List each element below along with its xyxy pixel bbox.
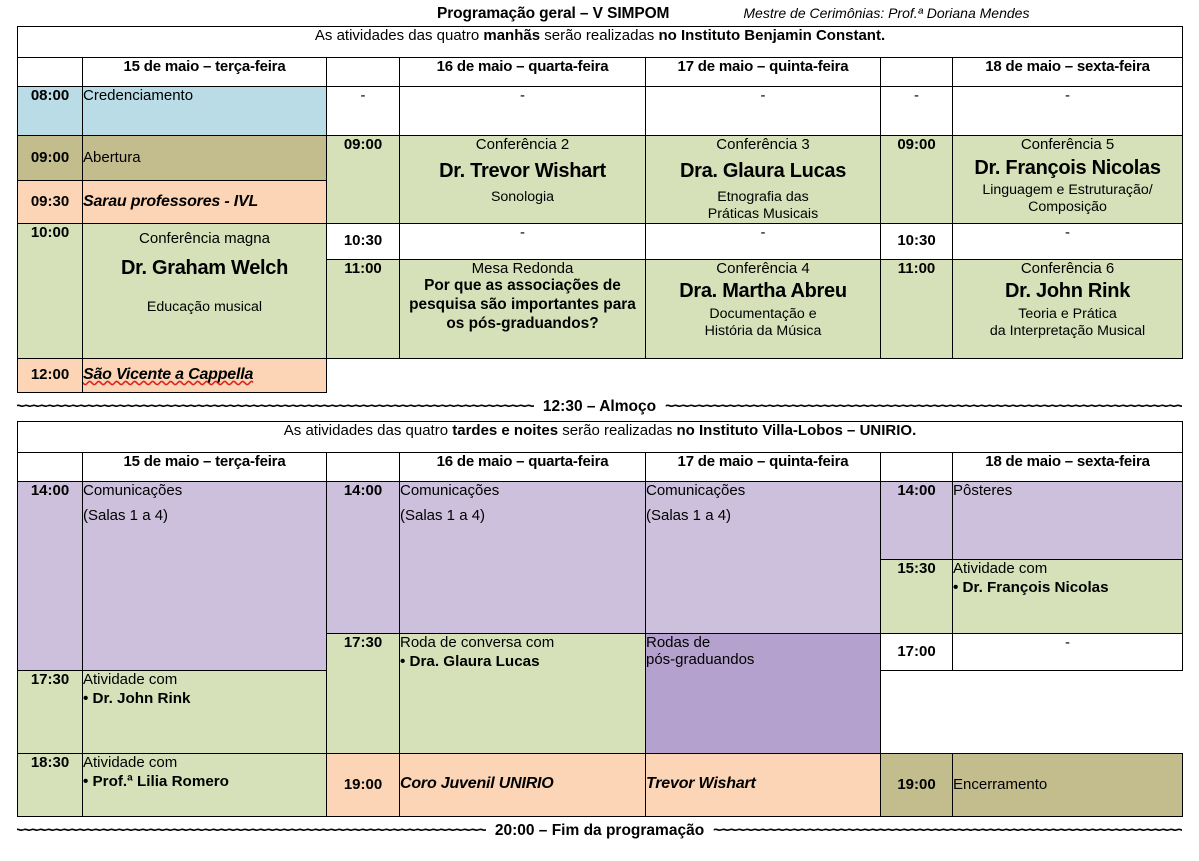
- sao-vicente-label: São Vicente a Cappella: [83, 366, 326, 385]
- morning-banner-p3: serão realizadas: [540, 27, 658, 44]
- day2-comunicacoes-l1: Comunicações: [400, 482, 645, 500]
- atividade-romero-l2: • Prof.ª Lilia Romero: [83, 773, 326, 791]
- afternoon-banner-p1: As atividades das quatro: [284, 422, 452, 439]
- morning-row-1000: 10:00 Conferência magna Dr. Graham Welch…: [18, 223, 1183, 259]
- coro-juvenil-label: Coro Juvenil UNIRIO: [400, 775, 645, 794]
- roda-conversa-l1: Roda de conversa com: [400, 634, 645, 652]
- afternoon-day3-rodas-posgrad: Rodas de pós-graduandos: [646, 633, 881, 753]
- day3-comunicacoes-l2: (Salas 1 a 4): [646, 507, 880, 525]
- morning-day1-sarau: Sarau professores - IVL: [83, 181, 327, 224]
- afternoon-day-header-row: 15 de maio – terça-feira 16 de maio – qu…: [18, 452, 1183, 481]
- afternoon-banner-p4: no Instituto Villa-Lobos – UNIRIO.: [677, 422, 917, 439]
- morning-day3-conferencia4: Conferência 4 Dra. Martha Abreu Document…: [646, 259, 881, 358]
- end-tilde-left: ~~~~~~~~~~~~~~~~~~~~~~~~~~~~~~~~~~~~~~~~…: [17, 822, 486, 840]
- afternoon-time-header-4: [881, 452, 953, 481]
- lunch-label: 12:30 – Almoço: [534, 398, 665, 416]
- afternoon-banner-p3: serão realizadas: [558, 422, 676, 439]
- afternoon-time-1400-day2: 14:00: [327, 481, 400, 633]
- afternoon-schedule-table: As atividades das quatro tardes e noites…: [17, 421, 1183, 817]
- afternoon-row-1400: 14:00 Comunicações (Salas 1 a 4) 14:00 C…: [18, 481, 1183, 559]
- afternoon-time-1400-day4: 14:00: [881, 481, 953, 559]
- afternoon-day-header-4: 18 de maio – sexta-feira: [953, 452, 1183, 481]
- day2-comunicacoes-l2: (Salas 1 a 4): [400, 507, 645, 525]
- afternoon-day3-comunicacoes: Comunicações (Salas 1 a 4): [646, 481, 881, 633]
- afternoon-day4-1700-dash: -: [953, 633, 1183, 670]
- conferencia2-topic: Sonologia: [404, 189, 641, 206]
- afternoon-day-header-2: 16 de maio – quarta-feira: [400, 452, 646, 481]
- afternoon-day1-comunicacoes: Comunicações (Salas 1 a 4): [83, 481, 327, 670]
- posteres-label: Pôsteres: [953, 482, 1182, 500]
- magna-label: Conferência magna: [87, 230, 322, 248]
- morning-day4-time-1100: 11:00: [881, 259, 953, 358]
- end-separator: ~~~~~~~~~~~~~~~~~~~~~~~~~~~~~~~~~~~~~~~~…: [17, 817, 1182, 845]
- morning-banner-row: As atividades das quatro manhãs serão re…: [18, 27, 1183, 58]
- conferencia2-label: Conferência 2: [404, 136, 641, 154]
- conferencia3-speaker: Dra. Glaura Lucas: [650, 160, 876, 184]
- conferencia6-label: Conferência 6: [957, 260, 1178, 278]
- afternoon-day2-coro-juvenil: Coro Juvenil UNIRIO: [400, 753, 646, 816]
- conferencia6-topic-l1: Teoria e Prática: [957, 306, 1178, 323]
- afternoon-banner-p2: tardes e noites: [452, 422, 558, 439]
- afternoon-day-header-1: 15 de maio – terça-feira: [83, 452, 327, 481]
- afternoon-time-1730-day4: 17:30: [18, 670, 83, 753]
- afternoon-day3-trevor-wishart: Trevor Wishart: [646, 753, 881, 816]
- afternoon-time-1900-day4: 19:00: [881, 753, 953, 816]
- mesa-redonda-label: Mesa Redonda: [404, 260, 641, 278]
- afternoon-time-1830-day1: 18:30: [18, 753, 83, 816]
- morning-day-header-1: 15 de maio – terça-feira: [83, 58, 327, 87]
- end-tilde-right: ~~~~~~~~~~~~~~~~~~~~~~~~~~~~~~~~~~~~~~~~…: [713, 822, 1182, 840]
- trevor-wishart-label: Trevor Wishart: [646, 775, 880, 794]
- morning-day4-conferencia6: Conferência 6 Dr. John Rink Teoria e Prá…: [953, 259, 1183, 358]
- conferencia6-topic-l2: da Interpretação Musical: [957, 323, 1178, 340]
- afternoon-day-header-3: 17 de maio – quinta-feira: [646, 452, 881, 481]
- morning-banner-p1: As atividades das quatro: [315, 27, 483, 44]
- morning-day2-time-dash: -: [327, 87, 400, 136]
- conferencia5-topic-l2: Composição: [957, 199, 1178, 216]
- afternoon-time-1530-day4: 15:30: [881, 559, 953, 633]
- conferencia4-speaker: Dra. Martha Abreu: [650, 280, 876, 304]
- morning-row-0900: 09:00 Abertura 09:00 Conferência 2 Dr. T…: [18, 136, 1183, 181]
- conferencia3-topic-l2: Práticas Musicais: [650, 206, 876, 223]
- end-label: 20:00 – Fim da programação: [486, 822, 713, 840]
- afternoon-day1-atividade-romero: Atividade com • Prof.ª Lilia Romero: [83, 753, 327, 816]
- sarau-label: Sarau professores - IVL: [83, 193, 326, 212]
- morning-time-0800: 08:00: [18, 87, 83, 136]
- afternoon-day4-atividade-nicolas: Atividade com • Dr. François Nicolas: [953, 559, 1183, 633]
- morning-day-header-row: 15 de maio – terça-feira 16 de maio – qu…: [18, 58, 1183, 87]
- morning-day4-time-0900: 09:00: [881, 136, 953, 224]
- morning-day2-1030-dash: -: [400, 223, 646, 259]
- morning-day2-conferencia2: Conferência 2 Dr. Trevor Wishart Sonolog…: [400, 136, 646, 224]
- afternoon-banner: As atividades das quatro tardes e noites…: [18, 421, 1183, 452]
- magna-speaker: Dr. Graham Welch: [87, 257, 322, 281]
- conferencia5-topic-l1: Linguagem e Estruturação/: [957, 182, 1178, 199]
- page-title-row: Programação geral – V SIMPOM Mestre de C…: [17, 0, 1182, 26]
- morning-day3-0800-dash: -: [646, 87, 881, 136]
- lunch-separator: ~~~~~~~~~~~~~~~~~~~~~~~~~~~~~~~~~~~~~~~~…: [17, 393, 1182, 421]
- conferencia2-speaker: Dr. Trevor Wishart: [404, 160, 641, 184]
- morning-day4-time-dash: -: [881, 87, 953, 136]
- afternoon-time-1700-day4: 17:00: [881, 633, 953, 670]
- morning-day1-sao-vicente: São Vicente a Cappella: [83, 358, 327, 392]
- encerramento-label: Encerramento: [953, 776, 1182, 794]
- day3-comunicacoes-l1: Comunicações: [646, 482, 880, 500]
- morning-time-1000: 10:00: [18, 223, 83, 358]
- conferencia5-label: Conferência 5: [957, 136, 1178, 154]
- afternoon-day2-comunicacoes: Comunicações (Salas 1 a 4): [400, 481, 646, 633]
- atividade-rink-l1: Atividade com: [83, 671, 326, 689]
- afternoon-day2-roda-conversa: Roda de conversa com • Dra. Glaura Lucas: [400, 633, 646, 753]
- conferencia5-speaker: Dr. François Nicolas: [957, 157, 1178, 181]
- morning-row-0800: 08:00 Credenciamento - - - - -: [18, 87, 1183, 136]
- morning-day4-0800-dash: -: [953, 87, 1183, 136]
- day1-comunicacoes-l2: (Salas 1 a 4): [83, 507, 326, 525]
- afternoon-day4-atividade-rink: Atividade com • Dr. John Rink: [83, 670, 327, 753]
- morning-day1-abertura: Abertura: [83, 136, 327, 181]
- afternoon-time-1400-day1: 14:00: [18, 481, 83, 670]
- morning-schedule-table: As atividades das quatro manhãs serão re…: [17, 26, 1183, 393]
- morning-day2-0800-dash: -: [400, 87, 646, 136]
- morning-day2-time-0900: 09:00: [327, 136, 400, 224]
- morning-day1-conferencia-magna: Conferência magna Dr. Graham Welch Educa…: [83, 223, 327, 358]
- morning-day2-time-1100: 11:00: [327, 259, 400, 358]
- atividade-nicolas-l1: Atividade com: [953, 560, 1182, 578]
- roda-conversa-l2: • Dra. Glaura Lucas: [400, 653, 645, 671]
- morning-banner-p2: manhãs: [483, 27, 540, 44]
- afternoon-row-1900: 18:30 Atividade com • Prof.ª Lilia Romer…: [18, 753, 1183, 816]
- atividade-romero-l1: Atividade com: [83, 754, 326, 772]
- afternoon-time-1730-day2: 17:30: [327, 633, 400, 753]
- morning-day1-credenciamento: Credenciamento: [83, 87, 327, 136]
- morning-banner: As atividades das quatro manhãs serão re…: [18, 27, 1183, 58]
- day1-comunicacoes-l1: Comunicações: [83, 482, 326, 500]
- morning-day4-time-1030: 10:30: [881, 223, 953, 259]
- credenciamento-label: Credenciamento: [83, 87, 326, 105]
- morning-time-header-2: [327, 58, 400, 87]
- morning-day4-1030-dash: -: [953, 223, 1183, 259]
- atividade-nicolas-l2: • Dr. François Nicolas: [953, 579, 1182, 597]
- morning-day3-conferencia3: Conferência 3 Dra. Glaura Lucas Etnograf…: [646, 136, 881, 224]
- mesa-redonda-question: Por que as associações de pesquisa são i…: [404, 277, 641, 333]
- morning-day3-1030-dash: -: [646, 223, 881, 259]
- afternoon-time-header-2: [327, 452, 400, 481]
- morning-time-header-4: [881, 58, 953, 87]
- morning-row-1200: 12:00 São Vicente a Cappella: [18, 358, 1183, 392]
- lunch-tilde-right: ~~~~~~~~~~~~~~~~~~~~~~~~~~~~~~~~~~~~~~~~…: [665, 398, 1182, 416]
- atividade-rink-l2: • Dr. John Rink: [83, 690, 326, 708]
- conferencia3-label: Conferência 3: [650, 136, 876, 154]
- schedule-page: Programação geral – V SIMPOM Mestre de C…: [0, 0, 1199, 861]
- conferencia3-topic-l1: Etnografia das: [650, 189, 876, 206]
- morning-time-header-1: [18, 58, 83, 87]
- morning-day4-conferencia5: Conferência 5 Dr. François Nicolas Lingu…: [953, 136, 1183, 224]
- morning-day2-mesa-redonda: Mesa Redonda Por que as associações de p…: [400, 259, 646, 358]
- afternoon-day4-posteres: Pôsteres: [953, 481, 1183, 559]
- morning-banner-p4: no Instituto Benjamin Constant.: [658, 27, 885, 44]
- morning-day2-time-1030: 10:30: [327, 223, 400, 259]
- lunch-tilde-left: ~~~~~~~~~~~~~~~~~~~~~~~~~~~~~~~~~~~~~~~~…: [17, 398, 534, 416]
- morning-day-header-2: 16 de maio – quarta-feira: [400, 58, 646, 87]
- morning-day-header-3: 17 de maio – quinta-feira: [646, 58, 881, 87]
- conferencia6-speaker: Dr. John Rink: [957, 280, 1178, 304]
- master-of-ceremonies: Mestre de Cerimônias: Prof.ª Doriana Men…: [743, 5, 1029, 21]
- abertura-label: Abertura: [83, 149, 326, 167]
- afternoon-time-header-1: [18, 452, 83, 481]
- morning-time-1200: 12:00: [18, 358, 83, 392]
- conferencia4-topic-l1: Documentação e: [650, 306, 876, 323]
- morning-time-0900: 09:00: [18, 136, 83, 181]
- morning-time-0930: 09:30: [18, 181, 83, 224]
- rodas-posgrad-l2: pós-graduandos: [646, 651, 880, 669]
- morning-day-header-4: 18 de maio – sexta-feira: [953, 58, 1183, 87]
- conferencia4-label: Conferência 4: [650, 260, 876, 278]
- afternoon-banner-row: As atividades das quatro tardes e noites…: [18, 421, 1183, 452]
- afternoon-time-1900-day2: 19:00: [327, 753, 400, 816]
- afternoon-day4-encerramento: Encerramento: [953, 753, 1183, 816]
- rodas-posgrad-l1: Rodas de: [646, 634, 880, 652]
- page-title: Programação geral – V SIMPOM: [437, 5, 669, 23]
- conferencia4-topic-l2: História da Música: [650, 323, 876, 340]
- magna-topic: Educação musical: [87, 299, 322, 316]
